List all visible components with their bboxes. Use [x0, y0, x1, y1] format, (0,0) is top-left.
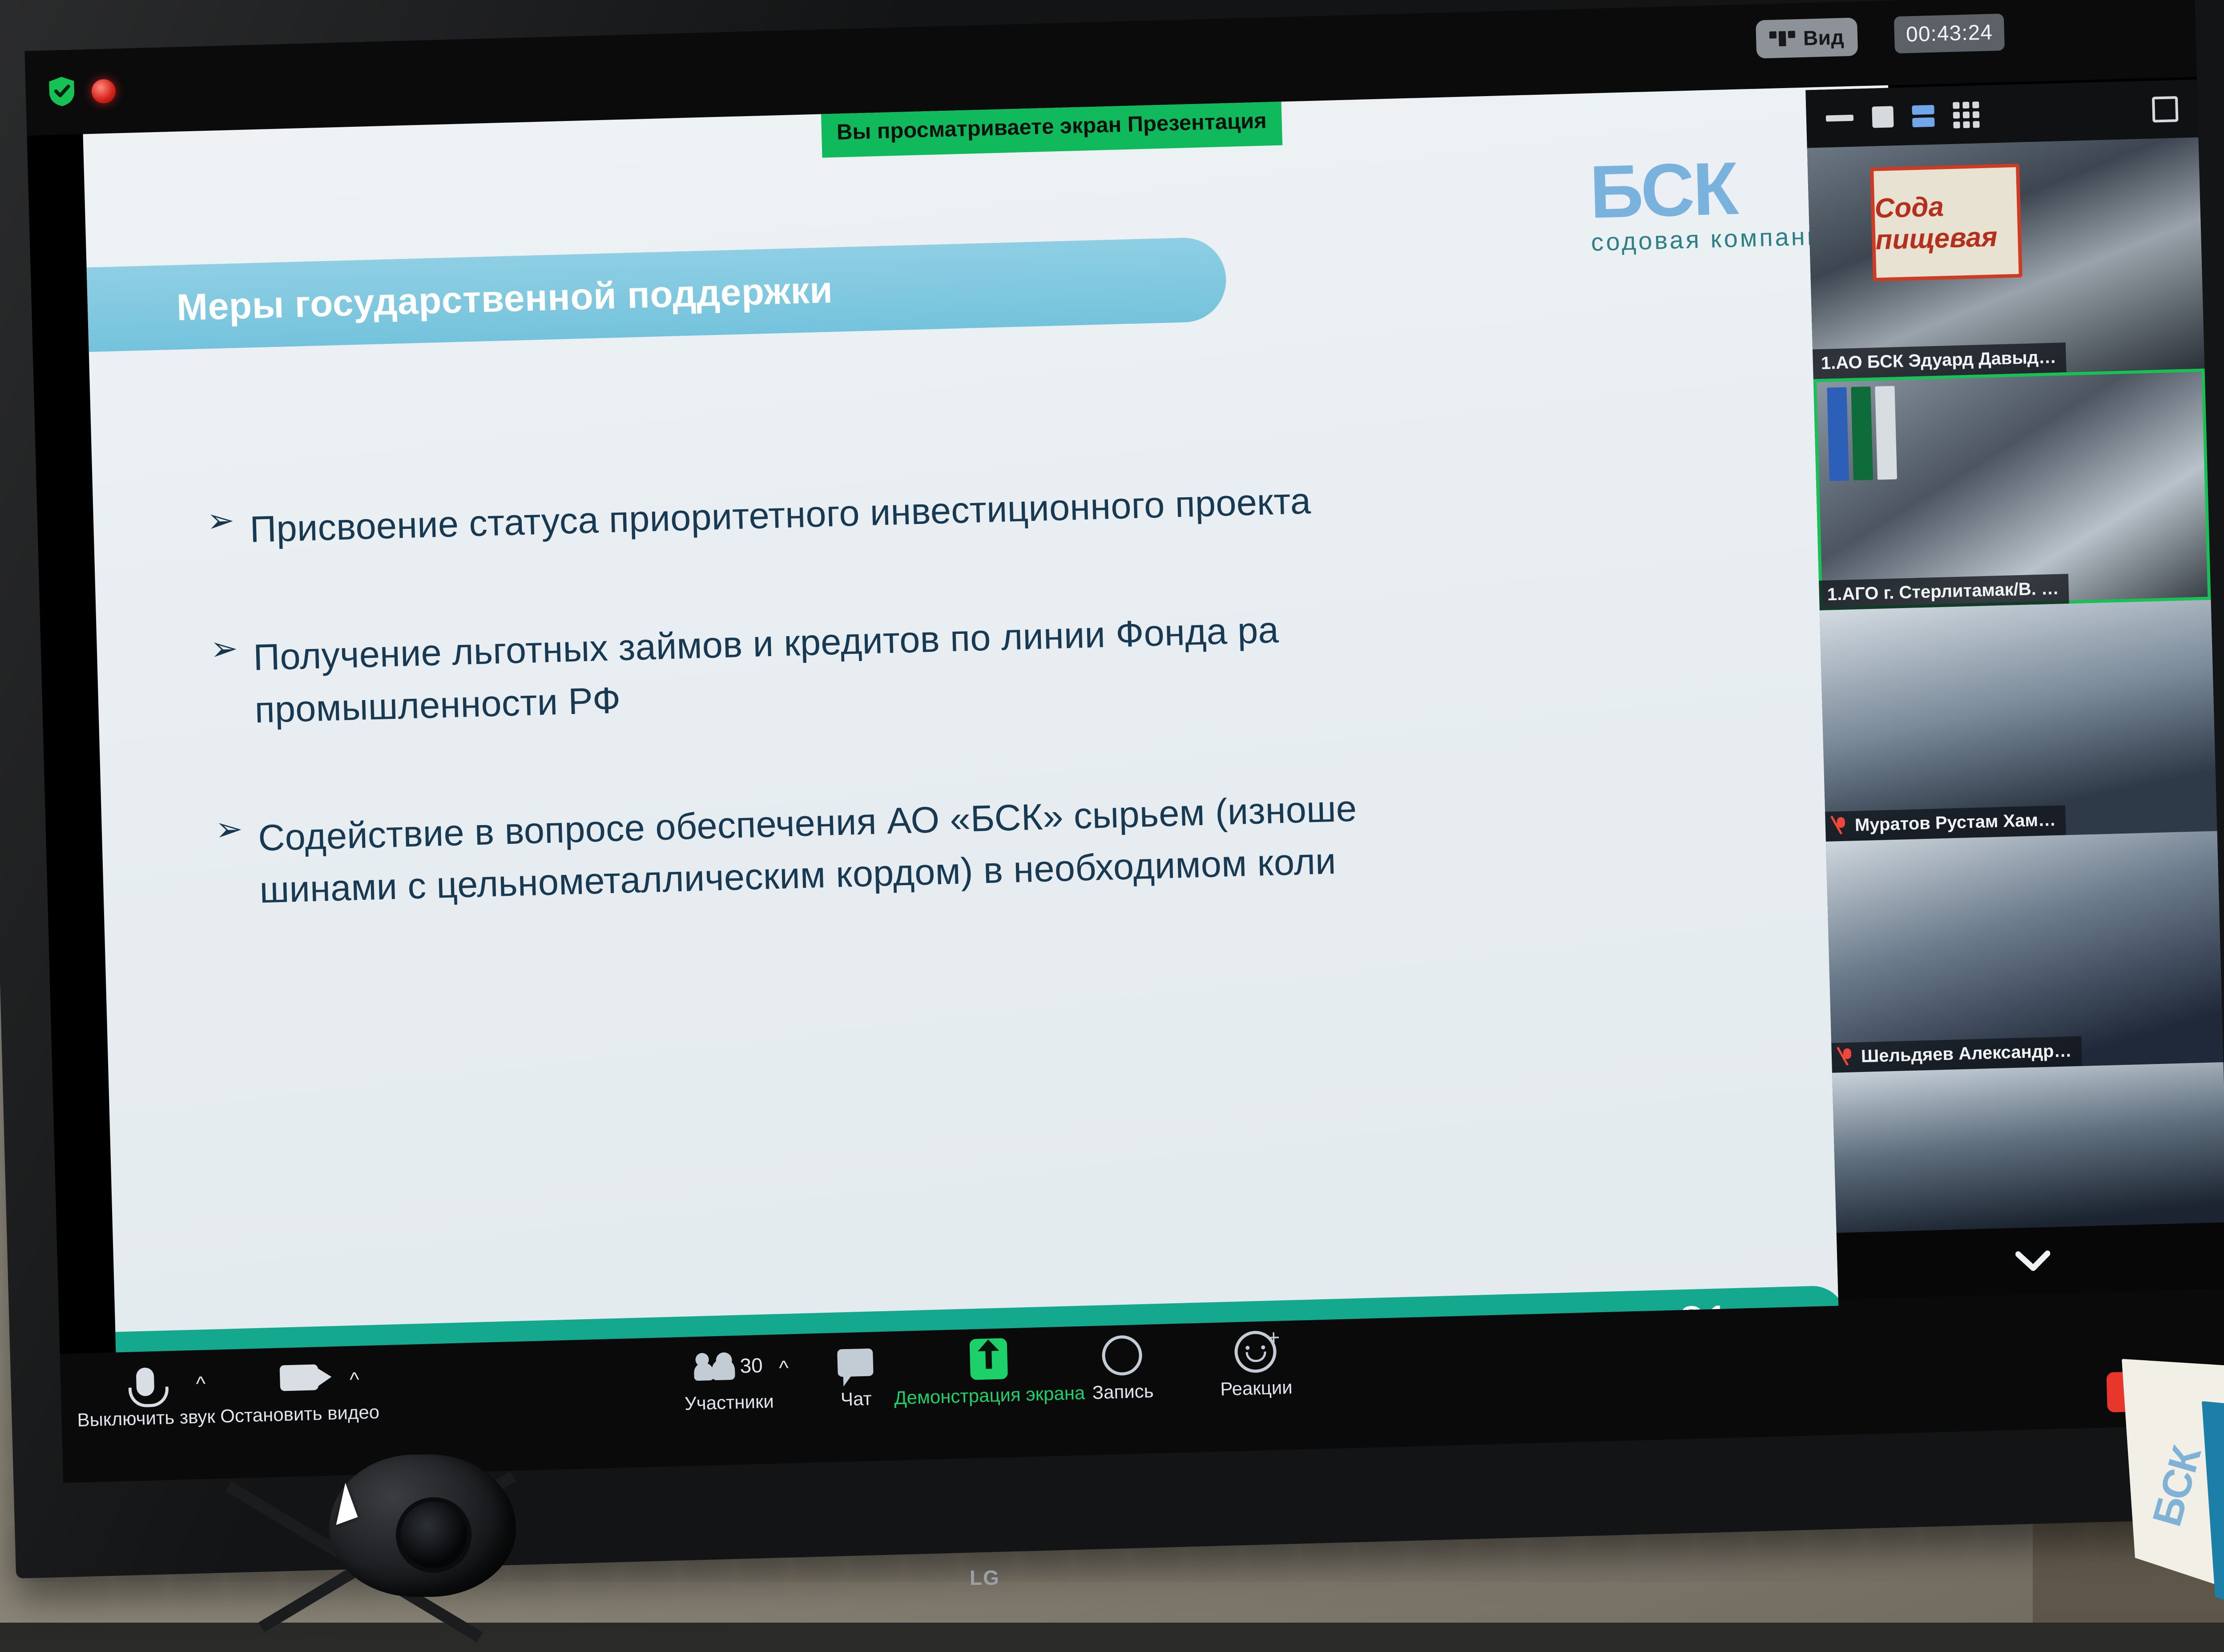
view-button[interactable]: Вид	[1756, 17, 1858, 58]
participant-tile[interactable]: Шельдяев Александр…	[1826, 831, 2224, 1073]
smiley-plus-icon: +	[1234, 1331, 1277, 1373]
participant-caption-badge: Сода пищевая	[1870, 164, 2023, 282]
stop-video-button-label: Остановить видео	[220, 1401, 380, 1427]
bullet-text: Присвоение статуса приоритетного инвести…	[249, 475, 1311, 556]
meeting-timer: 00:43:24	[1894, 14, 2005, 54]
reactions-button[interactable]: + Реакции	[1188, 1320, 1324, 1401]
shared-presentation-slide: Настройки просмотра ∨ Вы просматриваете …	[83, 85, 1924, 1437]
speaker-view-icon[interactable]	[1872, 106, 1894, 128]
mic-muted-icon	[1840, 1047, 1855, 1067]
record-button[interactable]: Запись	[1055, 1323, 1190, 1404]
participant-name: Муратов Рустам Хам…	[1854, 810, 2056, 835]
chat-button-label: Чат	[840, 1388, 872, 1410]
share-screen-arrow-icon	[969, 1338, 1007, 1380]
microphone-icon	[136, 1361, 154, 1402]
record-circle-icon	[1101, 1334, 1142, 1376]
participant-name: 1.АО БСК Эдуард Давыд…	[1821, 347, 2056, 374]
participant-filmstrip: Сода пищевая 1.АО БСК Эдуард Давыд… 1.АГ…	[1805, 80, 2224, 1326]
mute-button[interactable]: Выключить звук	[78, 1350, 214, 1431]
chat-bubble-icon	[837, 1342, 873, 1383]
slide-title: Меры государственной поддержки	[176, 268, 834, 329]
people-icon: 30	[693, 1345, 763, 1387]
mic-muted-icon	[1833, 816, 1849, 836]
shield-check-icon[interactable]	[48, 76, 76, 108]
popout-icon[interactable]	[2152, 96, 2179, 123]
sharing-banner-label: Вы просматриваете экран Презентация	[836, 108, 1267, 145]
participants-count: 30	[740, 1353, 763, 1378]
filmstrip-scroll-down-button[interactable]	[1837, 1222, 2224, 1300]
participants-caret-icon[interactable]: ^	[779, 1356, 789, 1380]
meeting-timer-value: 00:43:24	[1906, 20, 1993, 46]
layout-glyph-icon	[1769, 31, 1795, 47]
bullet-arrow-icon: ➢	[206, 504, 250, 538]
slide-title-pill: Меры государственной поддержки	[83, 237, 1227, 352]
bullet-arrow-icon: ➢	[215, 812, 258, 846]
gallery-view-icon[interactable]	[1953, 101, 1980, 129]
stop-video-button[interactable]: Остановить видео	[231, 1346, 367, 1426]
view-button-label: Вид	[1803, 25, 1845, 50]
bsk-logo-mark: БСК	[1589, 153, 1838, 224]
flag-decor-icon	[1827, 386, 1897, 481]
audio-options-caret-icon[interactable]: ^	[196, 1371, 206, 1396]
share-screen-button[interactable]: Демонстрация экрана	[921, 1327, 1057, 1408]
slide-bullet: ➢ Получение льготных займов и кредитов п…	[210, 587, 1894, 737]
participant-tile[interactable]: Муратов Рустам Хам…	[1820, 600, 2217, 842]
minimize-icon[interactable]	[1826, 115, 1853, 122]
bullet-text-line2: промышленности РФ	[254, 679, 621, 730]
participants-button-label: Участники	[684, 1390, 774, 1414]
participant-tile[interactable]: Сода пищевая 1.АО БСК Эдуард Давыд…	[1807, 137, 2205, 379]
bullet-text: Содействие в вопросе обеспечения АО «БСК…	[258, 782, 1359, 916]
participant-name: Шельдяев Александр…	[1861, 1041, 2072, 1067]
bullet-text: Получение льготных займов и кредитов по …	[253, 604, 1281, 736]
bullet-text-line1: Получение льготных займов и кредитов по …	[253, 609, 1279, 678]
record-button-label: Запись	[1092, 1380, 1154, 1403]
slide-bullet: ➢ Содействие в вопросе обеспечения АО «Б…	[215, 767, 1898, 918]
monitor-screen: Вид 00:43:24 Настройки просмотра ∨ Вы пр…	[24, 0, 2224, 1483]
webcam-icon	[329, 1455, 516, 1597]
filmstrip-layout-toolbar[interactable]	[1805, 80, 2198, 148]
mute-button-label: Выключить звук	[77, 1406, 215, 1430]
reactions-button-label: Реакции	[1220, 1377, 1293, 1400]
bsk-logo: БСК содовая компания	[1589, 153, 1839, 257]
recording-indicator	[91, 79, 116, 103]
participant-caption-text: Сода пищевая	[1874, 189, 2019, 256]
monitor-brand-label: LG	[970, 1566, 1000, 1590]
participant-name: 1.АГО г. Стерлитамак/В. …	[1827, 579, 2059, 605]
participant-tile[interactable]: 1.АГО г. Стерлитамак/В. …	[1813, 369, 2211, 611]
bsk-logo-subtitle: содовая компания	[1591, 221, 1839, 257]
lg-monitor: Вид 00:43:24 Настройки просмотра ∨ Вы пр…	[0, 0, 2224, 1579]
split-view-icon[interactable]	[1912, 105, 1934, 127]
slide-bullet: ➢ Присвоение статуса приоритетного инвес…	[206, 459, 1889, 557]
camera-icon	[279, 1357, 318, 1398]
slide-bullet-list: ➢ Присвоение статуса приоритетного инвес…	[206, 459, 1900, 993]
chevron-down-icon	[2015, 1250, 2051, 1272]
video-options-caret-icon[interactable]: ^	[349, 1367, 359, 1392]
participants-button[interactable]: 30 Участники	[661, 1334, 796, 1415]
participant-tile[interactable]	[1832, 1062, 2224, 1233]
bullet-arrow-icon: ➢	[210, 631, 254, 665]
